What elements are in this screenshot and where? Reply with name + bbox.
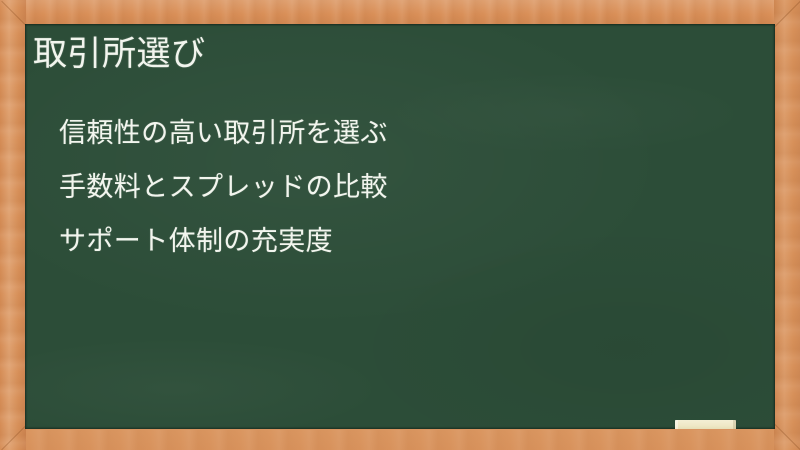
- list-item: 信頼性の高い取引所を選ぶ: [59, 106, 749, 160]
- slide-content: 取引所選び 信頼性の高い取引所を選ぶ 手数料とスプレッドの比較 サポート体制の充…: [25, 24, 775, 429]
- list-item: サポート体制の充実度: [59, 214, 749, 268]
- frame-stile-right: [774, 0, 800, 450]
- frame-rail-bottom: [0, 430, 800, 450]
- chalk-stick: [675, 420, 736, 429]
- frame-rail-top: [0, 0, 800, 26]
- chalkboard-slide: 取引所選び 信頼性の高い取引所を選ぶ 手数料とスプレッドの比較 サポート体制の充…: [0, 0, 800, 450]
- page-title: 取引所選び: [33, 32, 733, 76]
- list-item: 手数料とスプレッドの比較: [59, 160, 749, 214]
- chalkboard-surface: 取引所選び 信頼性の高い取引所を選ぶ 手数料とスプレッドの比較 サポート体制の充…: [25, 24, 775, 429]
- bullet-list: 信頼性の高い取引所を選ぶ 手数料とスプレッドの比較 サポート体制の充実度: [59, 106, 749, 268]
- frame-stile-left: [0, 0, 26, 450]
